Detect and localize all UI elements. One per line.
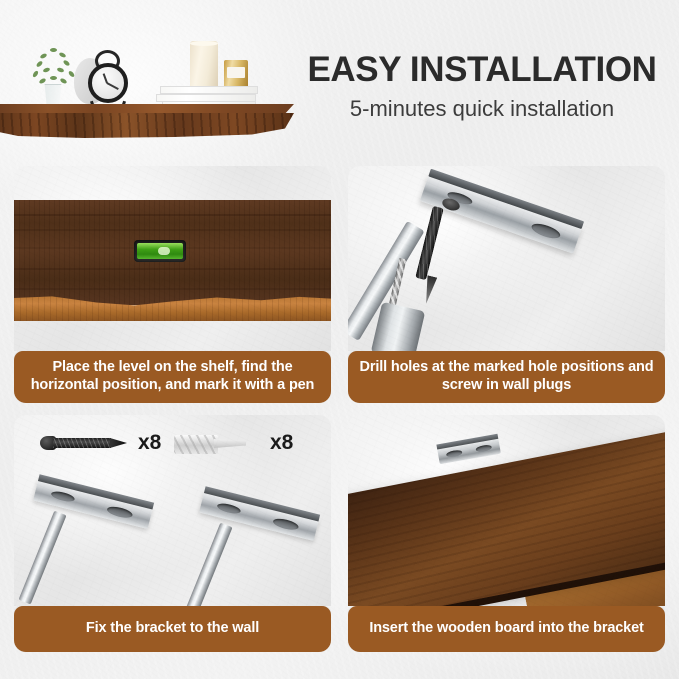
step-1-caption: Place the level on the shelf, find the h…: [14, 351, 331, 403]
screw-icon: [40, 435, 126, 451]
step-4-photo: [348, 415, 665, 606]
alarm-clock-decor: [86, 50, 130, 108]
candle-jar-decor: [224, 60, 248, 88]
bracket-right: [200, 505, 330, 606]
step-panel-1: Place the level on the shelf, find the h…: [14, 166, 331, 403]
header-text-block: EASY INSTALLATION 5-minutes quick instal…: [288, 52, 676, 122]
step-panel-2: Drill holes at the marked hole positions…: [348, 166, 665, 403]
header-banner: EASY INSTALLATION 5-minutes quick instal…: [0, 0, 679, 160]
step-3-caption: Fix the bracket to the wall: [14, 606, 331, 652]
pillar-candle-decor: [190, 41, 218, 87]
bracket-left: [34, 493, 164, 606]
bracket-wall-plate: [420, 174, 582, 253]
floating-shelf-hero: [0, 104, 294, 138]
page-subtitle: 5-minutes quick installation: [288, 96, 676, 122]
screw-quantity-label: x8: [138, 431, 161, 455]
parts-legend-row: x8 x8: [14, 427, 331, 469]
step-4-caption: Insert the wooden board into the bracket: [348, 606, 665, 652]
bracket-wall-plate-small: [437, 438, 501, 465]
potted-plant-decor: [30, 46, 76, 108]
page-title: EASY INSTALLATION: [288, 52, 676, 88]
wall-plug-quantity-label: x8: [270, 431, 293, 455]
step-2-caption: Drill holes at the marked hole positions…: [348, 351, 665, 403]
wall-plug-icon: [174, 433, 246, 455]
screw-shaft: [415, 206, 444, 280]
step-3-photo: x8 x8: [14, 415, 331, 606]
step-1-photo: [14, 166, 331, 351]
step-panel-3: x8 x8 Fi: [14, 415, 331, 652]
drill-chuck-icon: [371, 302, 426, 351]
hero-product-photo: [0, 18, 312, 153]
step-panel-grid: Place the level on the shelf, find the h…: [14, 166, 665, 666]
step-panel-4: Insert the wooden board into the bracket: [348, 415, 665, 652]
step-2-photo: [348, 166, 665, 351]
bubble-level-icon: [134, 240, 186, 262]
